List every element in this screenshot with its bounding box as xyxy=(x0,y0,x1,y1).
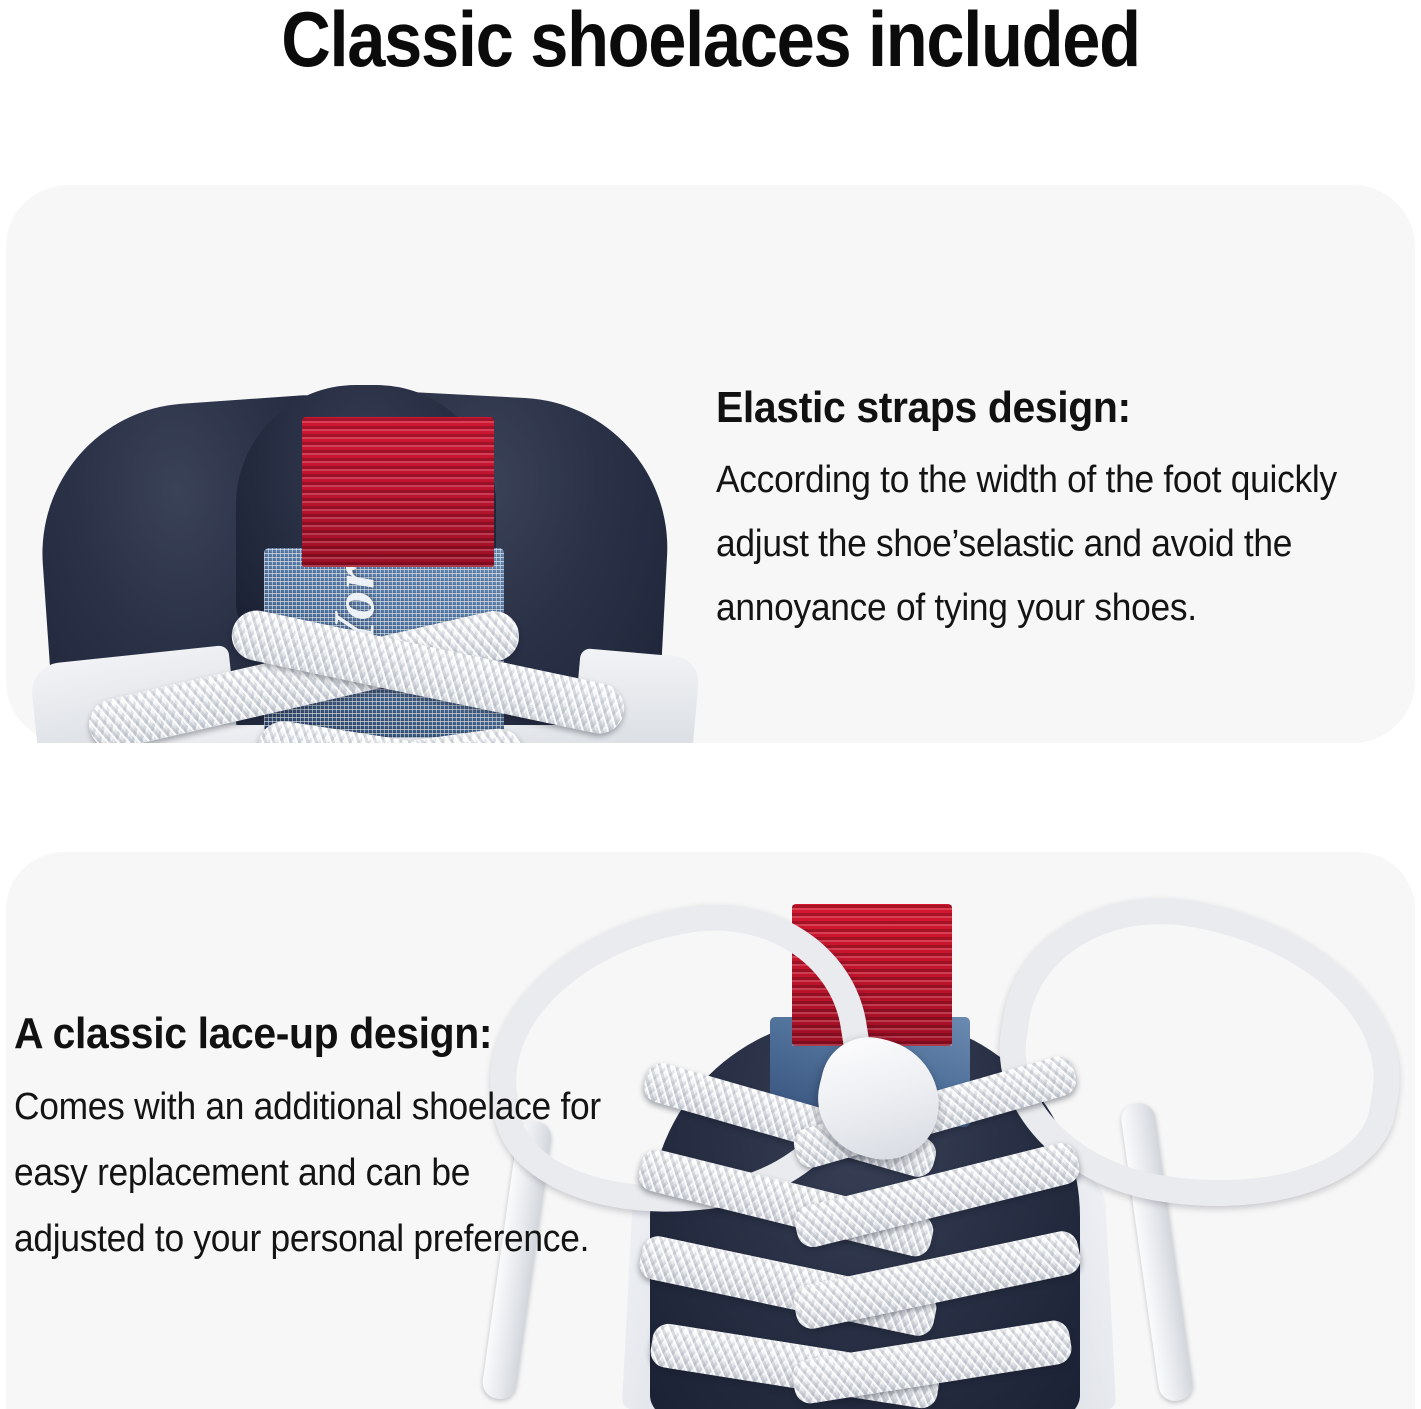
red-heel-pull-tab xyxy=(302,417,494,567)
page-title: Classic shoelaces included xyxy=(85,0,1335,82)
shoe-photo-elastic-straps: Yor xyxy=(6,185,706,743)
red-tab-rib-texture xyxy=(302,417,494,567)
feature-heading: Elastic straps design: xyxy=(716,382,1367,434)
feature-text-lace-up: A classic lace-up design: Comes with an … xyxy=(14,1008,654,1272)
feature-body: According to the width of the foot quick… xyxy=(716,448,1367,640)
feature-text-elastic-straps: Elastic straps design: According to the … xyxy=(716,382,1416,640)
feature-heading: A classic lace-up design: xyxy=(14,1008,609,1060)
feature-body: Comes with an additional shoelace for ea… xyxy=(14,1074,609,1272)
